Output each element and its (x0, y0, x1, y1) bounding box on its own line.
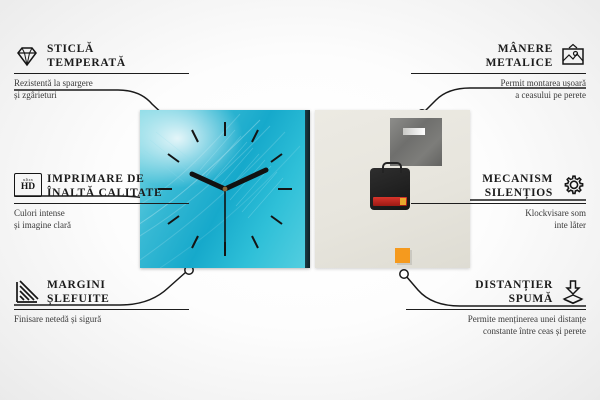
feature-title-line1: IMPRIMARE DE (47, 172, 162, 186)
picture-frame-hook-icon (560, 43, 586, 69)
feature-title-line2: SILENȚIOS (482, 186, 553, 200)
battery-terminal (400, 198, 406, 205)
feature-high-quality-print: ultra HD IMPRIMARE DE ÎNALTĂ CALITATE Cu… (14, 172, 189, 232)
foam-spacer-arrow-icon (560, 279, 586, 305)
hanger-loop (382, 162, 402, 173)
clock-movement (370, 168, 410, 210)
battery (373, 197, 407, 206)
feature-title-line1: STICLĂ (47, 42, 126, 56)
glass-edge (305, 110, 310, 268)
feature-title-line2: SPUMĂ (475, 292, 553, 306)
feature-silent-mechanism: MECANISM SILENȚIOS Klockvisare som inte … (411, 172, 586, 232)
feature-tempered-glass: STICLĂ TEMPERATĂ Rezistentă la spargere … (14, 42, 189, 102)
hanger-slot (403, 128, 425, 135)
feature-title-line1: MARGINI (47, 278, 109, 292)
feature-sub-line1: Permite menținerea unei distanțe (406, 314, 586, 326)
minute-hand (225, 170, 266, 189)
diamond-icon (14, 43, 40, 69)
feature-sub-line2: a ceasului pe perete (411, 90, 586, 102)
feature-foam-spacer: DISTANȚIER SPUMĂ Permite menținerea unei… (406, 278, 586, 338)
feature-sub-line1: Klockvisare som (411, 208, 586, 220)
polished-edges-icon (14, 279, 40, 305)
metal-hanger-plate (390, 118, 442, 166)
hour-hand (192, 174, 225, 189)
ultra-hd-icon-main: HD (21, 183, 35, 193)
feature-metal-handles: MÂNERE METALICE Permit montarea ușoară a… (411, 42, 586, 102)
feature-sub-line1: Rezistentă la spargere (14, 78, 189, 90)
ultra-hd-icon: ultra HD (14, 173, 40, 199)
feature-title-line2: METALICE (486, 56, 553, 70)
divider (14, 73, 189, 74)
feature-sub-line1: Permit montarea ușoară (411, 78, 586, 90)
feature-polished-edges: MARGINI ȘLEFUITE Finisare netedă și sigu… (14, 278, 189, 326)
feature-title-line2: ȘLEFUITE (47, 292, 109, 306)
feature-sub-line2: și imagine clară (14, 220, 189, 232)
feature-title-line1: MÂNERE (486, 42, 553, 56)
foam-spacer (395, 248, 410, 263)
feature-sub-line1: Finisare netedă și sigură (14, 314, 189, 326)
infographic-canvas: STICLĂ TEMPERATĂ Rezistentă la spargere … (0, 0, 600, 400)
divider (411, 73, 586, 74)
feature-title-line1: DISTANȚIER (475, 278, 553, 292)
feature-sub-line1: Culori intense (14, 208, 189, 220)
feature-title-line2: TEMPERATĂ (47, 56, 126, 70)
feature-title-line1: MECANISM (482, 172, 553, 186)
feature-sub-line2: și zgârieturi (14, 90, 189, 102)
hand-pivot (223, 187, 228, 192)
divider (411, 203, 586, 204)
feature-title-line2: ÎNALTĂ CALITATE (47, 186, 162, 200)
divider (14, 309, 189, 310)
divider (14, 203, 189, 204)
gear-icon (560, 173, 586, 199)
divider (406, 309, 586, 310)
connector-dot-spacer (400, 270, 408, 278)
feature-sub-line2: inte låter (411, 220, 586, 232)
feature-sub-line2: constante între ceas și perete (406, 326, 586, 338)
